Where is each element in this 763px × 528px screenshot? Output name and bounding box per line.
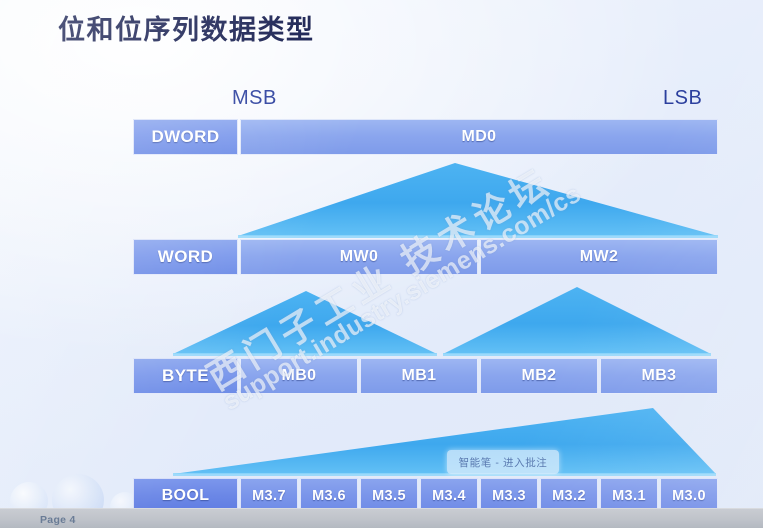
diagram-row-dword: DWORD MD0 (133, 119, 718, 155)
diagram-row-byte: BYTE MB0 MB1 MB2 MB3 (133, 358, 718, 394)
msb-label: MSB (232, 87, 277, 110)
cell-md0: MD0 (240, 119, 718, 155)
smart-pen-tooltip[interactable]: 智能笔 - 进入批注 (447, 450, 559, 474)
connector-double-peak-icon (133, 275, 718, 358)
cell-mb0: MB0 (240, 358, 358, 394)
slide-canvas: 位和位序列数据类型 MSB LSB DWORD MD0 WORD MW0 (0, 0, 763, 528)
lsb-label: LSB (663, 87, 702, 110)
cell-mb3: MB3 (600, 358, 718, 394)
bit-sequence-diagram: DWORD MD0 WORD MW0 MW2 (133, 119, 718, 514)
row-label-word: WORD (133, 239, 238, 275)
page-title: 位和位序列数据类型 (58, 8, 315, 47)
diagram-row-word: WORD MW0 MW2 (133, 239, 718, 275)
row-label-byte: BYTE (133, 358, 238, 394)
footer-bar (0, 508, 763, 528)
cell-mb2: MB2 (480, 358, 598, 394)
connector-single-peak-icon (133, 155, 718, 239)
page-number: Page 4 (40, 514, 76, 526)
cell-mw0: MW0 (240, 239, 478, 275)
connector-right-ramp-icon (133, 394, 718, 478)
cell-mb1: MB1 (360, 358, 478, 394)
row-label-dword: DWORD (133, 119, 238, 155)
cell-mw2: MW2 (480, 239, 718, 275)
